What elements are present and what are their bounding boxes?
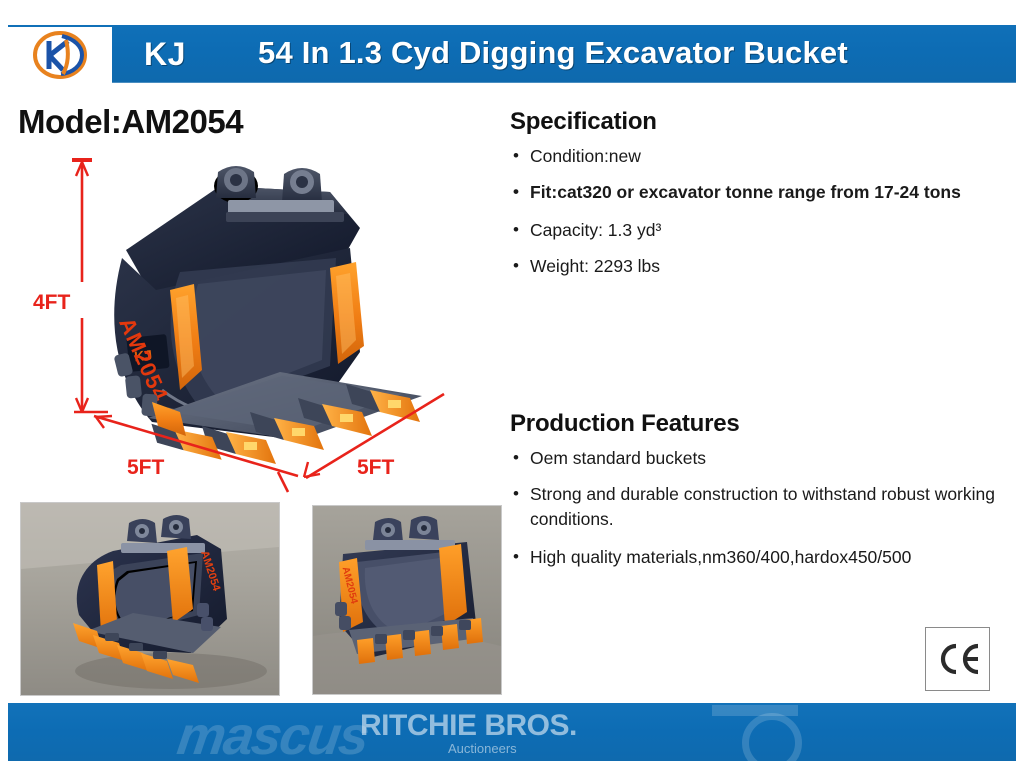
spec-item-capacity: Capacity: 1.3 yd³ [510,218,1000,243]
watermark-logo-bar [712,705,798,716]
kj-circular-logo-icon [29,30,91,80]
production-features-title: Production Features [510,410,1010,438]
logo-plate [8,27,112,83]
spec-item-weight: Weight: 2293 lbs [510,254,1000,279]
brand-name: KJ [144,34,186,74]
specification-section: Specification Condition:new Fit:cat320 o… [510,108,1010,290]
footer-bar: mascus RITCHIE BROS. Auctioneers [8,703,1016,761]
watermark-subtitle-text: Auctioneers [448,741,577,757]
watermark-logo-circle-icon [742,713,802,761]
dimension-label-width-right: 5FT [357,456,394,480]
feature-item-materials: High quality materials,nm360/400,hardox4… [510,545,1000,570]
product-spec-sheet: KJ 54 In 1.3 Cyd Digging Excavator Bucke… [0,0,1024,768]
dimension-label-height: 4FT [33,291,70,315]
hero-product-illustration: KJ AM2054 [30,140,490,500]
specification-list: Condition:new Fit:cat320 or excavator to… [510,144,1010,279]
specification-title: Specification [510,108,1010,136]
watermark-brand-text: RITCHIE BROS. [360,711,577,741]
spec-item-condition: Condition:new [510,144,1000,169]
page-title: 54 In 1.3 Cyd Digging Excavator Bucket [258,33,848,73]
watermark-ritchie-bros: RITCHIE BROS. Auctioneers [360,711,577,757]
ce-mark-badge [925,627,990,691]
product-photo-1: AM2054 [20,502,280,696]
production-features-list: Oem standard buckets Strong and durable … [510,446,1010,570]
dimension-label-width-left: 5FT [127,456,164,480]
model-label: Model:AM2054 [18,103,243,141]
spec-item-fit: Fit:cat320 or excavator tonne range from… [510,180,1000,205]
product-photo-2: AM2054 [312,505,502,695]
watermark-mascus: mascus [174,705,372,761]
production-features-section: Production Features Oem standard buckets… [510,410,1010,581]
feature-item-oem: Oem standard buckets [510,446,1000,471]
ce-mark-icon [936,642,980,676]
feature-item-construction: Strong and durable construction to withs… [510,482,1000,532]
